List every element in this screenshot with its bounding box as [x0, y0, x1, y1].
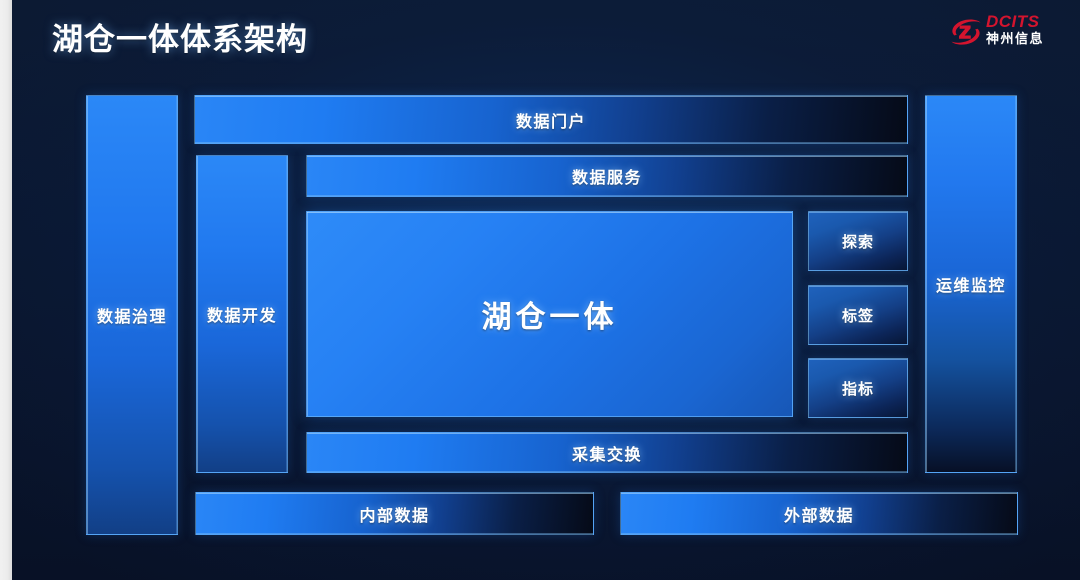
- left-edge-strip: [0, 0, 12, 580]
- block-collect-exchange-label: 采集交换: [572, 441, 642, 465]
- block-chip-explore-label: 探索: [842, 231, 874, 252]
- block-chip-metric[interactable]: 指标: [808, 358, 908, 418]
- page-title: 湖仓一体体系架构: [52, 14, 308, 59]
- block-internal-data[interactable]: 内部数据: [195, 492, 594, 535]
- logo-english-text: DCITS: [986, 12, 1066, 31]
- block-chip-tag-label: 标签: [842, 305, 874, 326]
- slide-header: 湖仓一体体系架构 DCITS 神州信息: [0, 0, 1080, 72]
- block-external-data[interactable]: 外部数据: [620, 492, 1018, 535]
- block-ops-monitoring[interactable]: 运维监控: [925, 95, 1017, 473]
- block-data-service-label: 数据服务: [572, 164, 642, 188]
- block-data-development[interactable]: 数据开发: [196, 155, 288, 473]
- dcits-swirl-icon: [948, 15, 984, 49]
- block-chip-explore[interactable]: 探索: [808, 211, 908, 271]
- block-data-governance[interactable]: 数据治理: [86, 95, 178, 535]
- company-logo: DCITS 神州信息: [948, 10, 1066, 56]
- block-lakehouse-core[interactable]: 湖仓一体: [306, 211, 793, 417]
- logo-chinese-text: 神州信息: [986, 31, 1066, 47]
- block-ops-monitoring-label: 运维监控: [936, 272, 1006, 296]
- block-chip-metric-label: 指标: [842, 378, 874, 399]
- block-collect-exchange[interactable]: 采集交换: [306, 432, 908, 473]
- block-data-portal[interactable]: 数据门户: [194, 95, 908, 144]
- slide-canvas: 湖仓一体体系架构 DCITS 神州信息 数据治理 数据开发: [0, 0, 1080, 580]
- block-chip-tag[interactable]: 标签: [808, 285, 908, 345]
- logo-text-block: DCITS 神州信息: [986, 12, 1066, 47]
- block-data-governance-label: 数据治理: [97, 303, 167, 327]
- block-data-development-label: 数据开发: [207, 302, 277, 326]
- block-internal-data-label: 内部数据: [359, 502, 429, 526]
- block-data-portal-label: 数据门户: [516, 108, 586, 132]
- block-data-service[interactable]: 数据服务: [306, 155, 908, 197]
- block-lakehouse-core-label: 湖仓一体: [482, 292, 618, 336]
- block-external-data-label: 外部数据: [784, 502, 854, 526]
